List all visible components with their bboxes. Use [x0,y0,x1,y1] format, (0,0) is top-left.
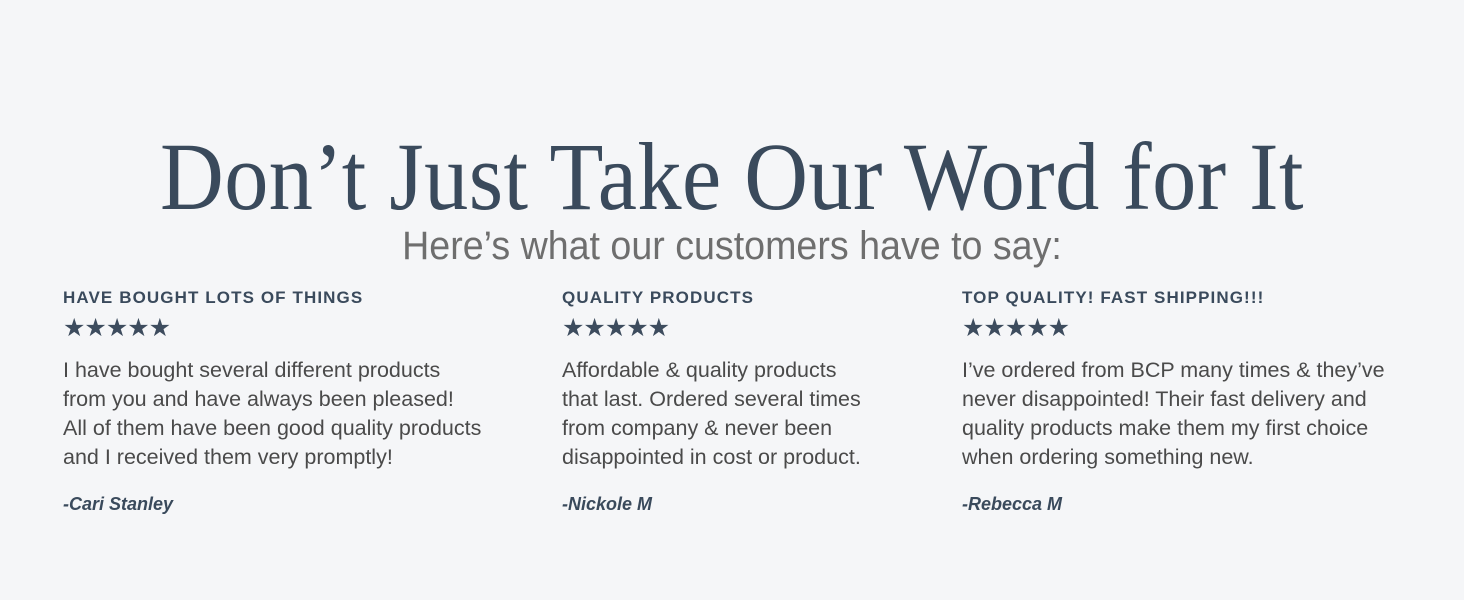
testimonial-body: Affordable & quality products that last.… [562,356,932,472]
star-rating-icon: ★★★★★ [562,316,932,341]
testimonial-author: -Nickole M [562,494,932,516]
testimonials-section: Don’t Just Take Our Word for It Here’s w… [0,0,1464,600]
page-title: Don’t Just Take Our Word for It [59,126,1406,228]
star-rating-icon: ★★★★★ [962,316,1400,341]
testimonial-body: I have bought several different products… [63,356,532,472]
testimonial-title: HAVE BOUGHT LOTS OF THINGS [63,288,532,308]
testimonial-title: QUALITY PRODUCTS [562,288,932,308]
star-rating-icon: ★★★★★ [63,316,532,341]
testimonial-body: I’ve ordered from BCP many times & they’… [962,356,1400,472]
testimonial-list: HAVE BOUGHT LOTS OF THINGS ★★★★★ I have … [63,288,1408,516]
testimonial-card: TOP QUALITY! FAST SHIPPING!!! ★★★★★ I’ve… [962,288,1408,516]
testimonial-author: -Cari Stanley [63,494,532,516]
testimonial-title: TOP QUALITY! FAST SHIPPING!!! [962,288,1400,308]
testimonial-author: -Rebecca M [962,494,1400,516]
testimonial-card: QUALITY PRODUCTS ★★★★★ Affordable & qual… [562,288,962,516]
page-subtitle: Here’s what our customers have to say: [44,222,1420,270]
testimonial-card: HAVE BOUGHT LOTS OF THINGS ★★★★★ I have … [63,288,562,516]
